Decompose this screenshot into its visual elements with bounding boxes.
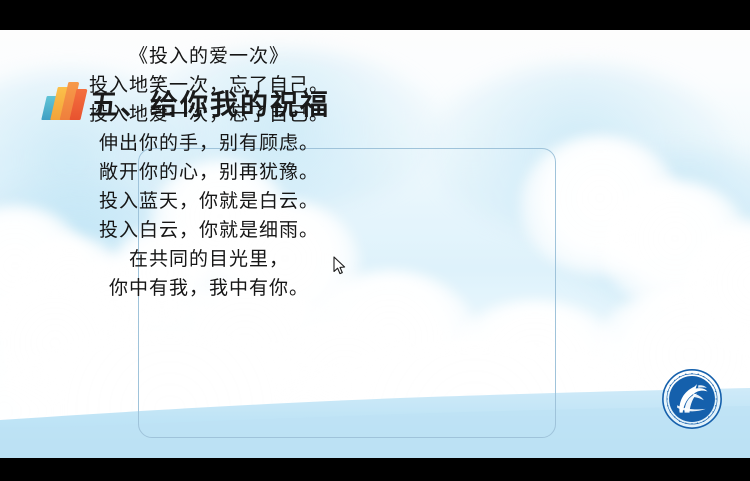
letterbox-top <box>0 0 750 30</box>
presentation-slide: 五、给你我的祝福 《投入的爱一次》 投入地笑一次，忘了自己。 投入地爱一次，忘了… <box>0 0 750 481</box>
poem-line: 投入白云，你就是细雨。 <box>0 216 418 245</box>
poem-line: 伸出你的手，别有顾虑。 <box>0 129 418 158</box>
poem-line: 敞开你的心，别再犹豫。 <box>0 158 418 187</box>
university-emblem-logo <box>661 368 723 430</box>
mouse-pointer-cursor <box>333 256 346 275</box>
poem-line: 投入地爱一次，忘了自己。 <box>0 100 418 129</box>
slide-canvas: 五、给你我的祝福 《投入的爱一次》 投入地笑一次，忘了自己。 投入地爱一次，忘了… <box>0 30 750 458</box>
poem-line: 在共同的目光里， <box>0 245 418 274</box>
poem-line: 你中有我，我中有你。 <box>0 274 418 303</box>
poem-line: 投入地笑一次，忘了自己。 <box>0 71 418 100</box>
poem-text-block: 《投入的爱一次》 投入地笑一次，忘了自己。 投入地爱一次，忘了自己。 伸出你的手… <box>0 30 418 303</box>
poem-line: 投入蓝天，你就是白云。 <box>0 187 418 216</box>
letterbox-bottom <box>0 458 750 481</box>
poem-title: 《投入的爱一次》 <box>0 42 418 71</box>
